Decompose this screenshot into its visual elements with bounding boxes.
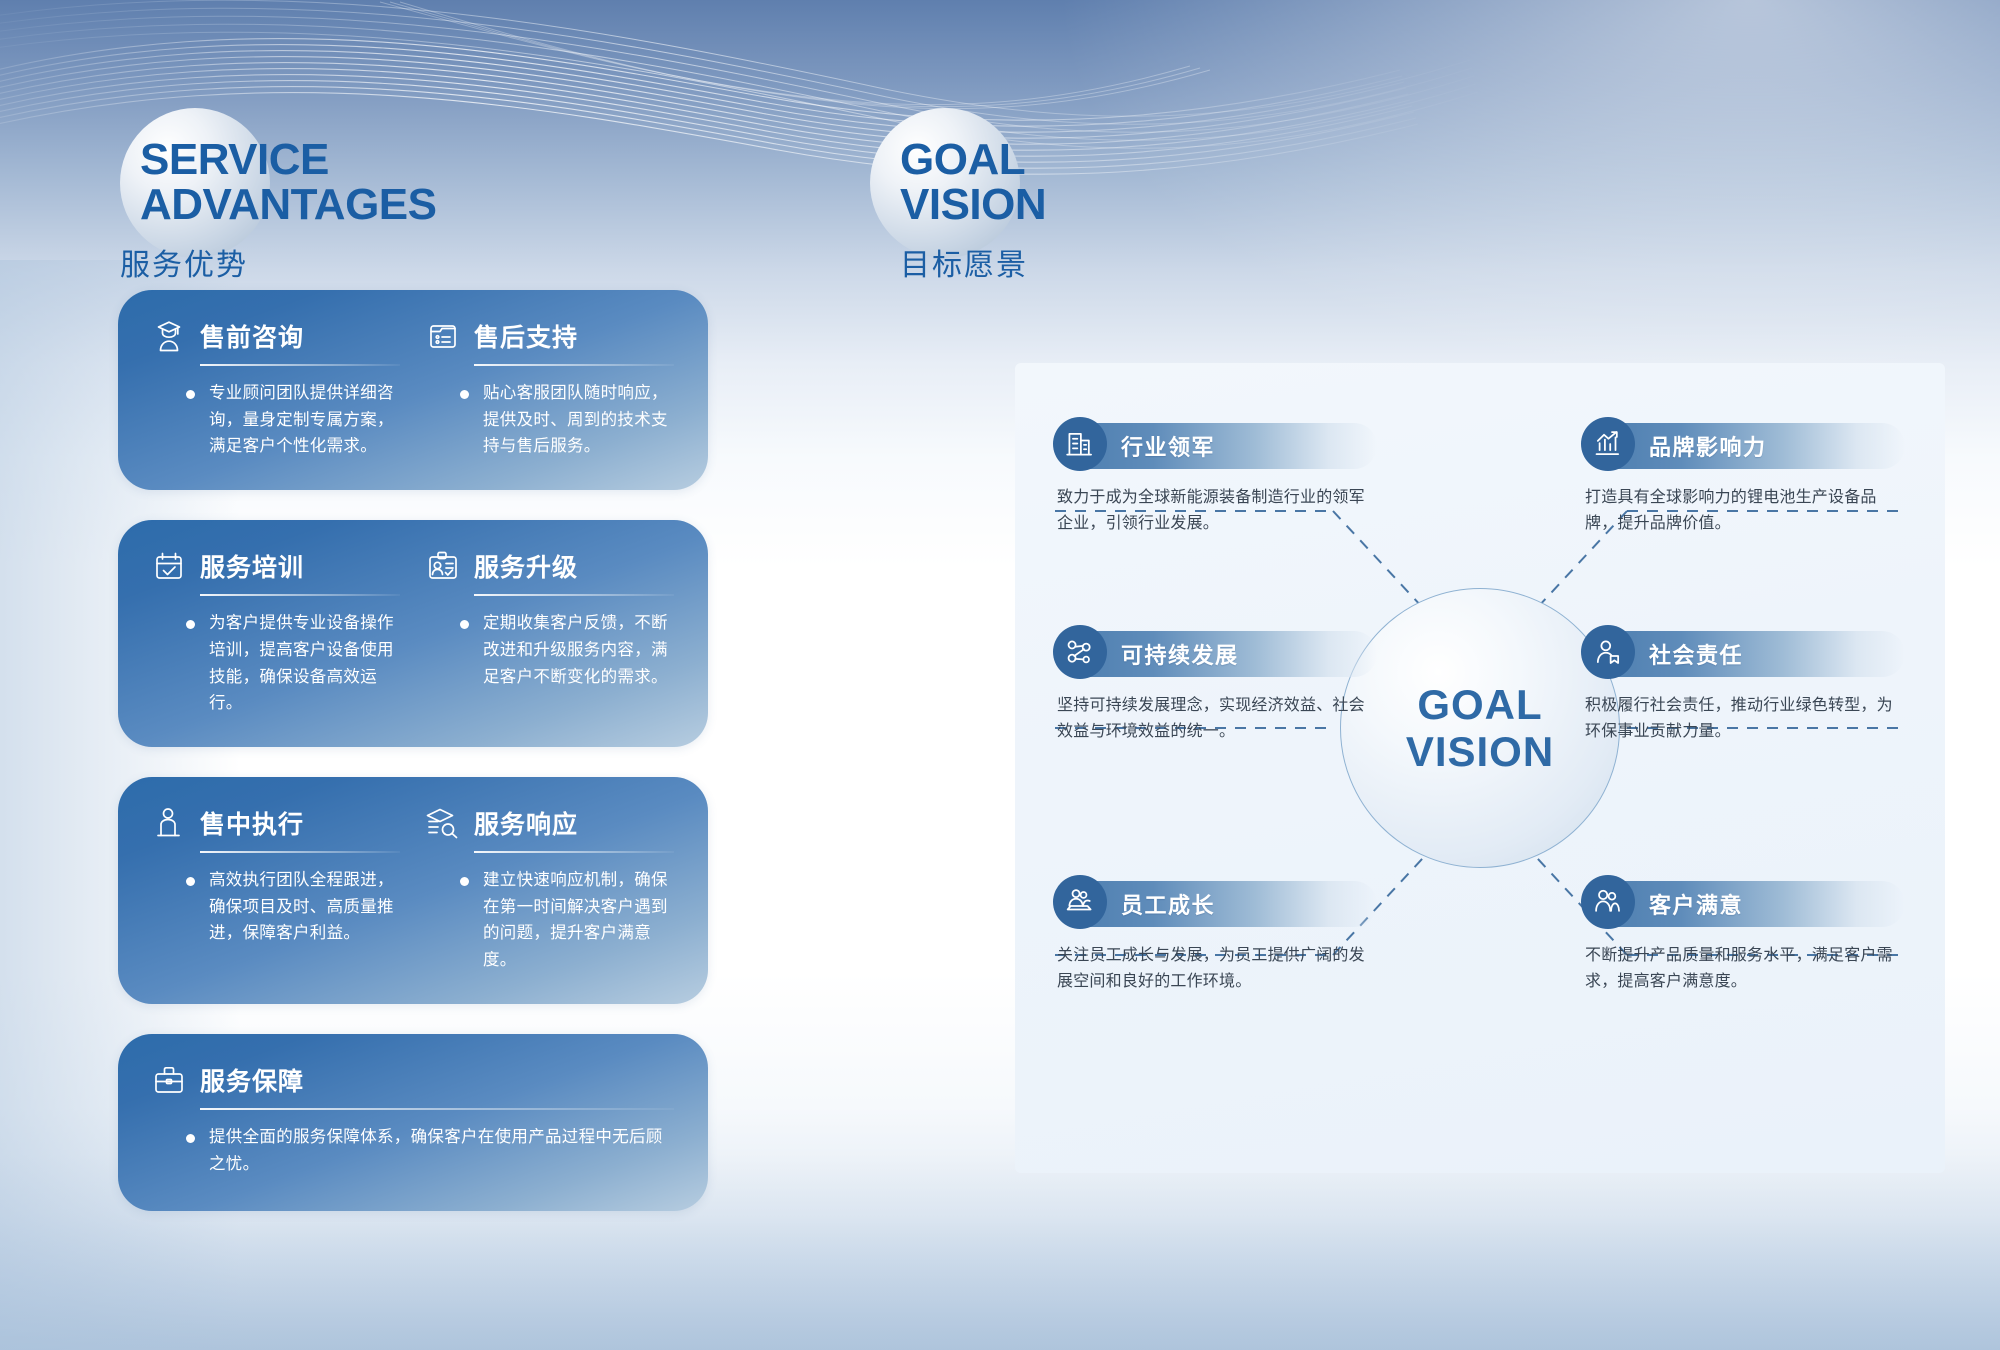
service-heading-english: SERVICE ADVANTAGES [140, 108, 720, 228]
goal-item-label: 社会责任 [1649, 638, 1743, 670]
service-item[interactable]: 服务培训为客户提供专业设备操作培训，提高客户设备使用技能，确保设备高效运行。 [152, 548, 400, 717]
service-item-title: 服务响应 [474, 805, 578, 841]
service-heading-line1: SERVICE [140, 138, 720, 183]
service-item-bullet: 贴心客服团队随时响应，提供及时、周到的技术支持与售后服务。 [426, 380, 674, 460]
goal-vision-heading: GOAL VISION 目标愿景 [870, 108, 1390, 288]
chart-growth-icon [1581, 417, 1635, 471]
person-badge-icon [1581, 625, 1635, 679]
goal-item-label: 客户满意 [1649, 888, 1743, 920]
goal-item-description: 关注员工成长与发展，为员工提供广阔的发展空间和良好的工作环境。 [1057, 943, 1377, 995]
service-item-description: 为客户提供专业设备操作培训，提高客户设备使用技能，确保设备高效运行。 [209, 610, 400, 717]
bullet-dot-icon [186, 877, 195, 886]
service-item-divider [200, 851, 400, 853]
bullet-dot-icon [460, 877, 469, 886]
goal-item-bot-right[interactable]: 客户满意不断提升产品质量和服务水平，满足客户需求，提高客户满意度。 [1585, 881, 1905, 995]
id-badge-check-icon [426, 549, 460, 583]
service-item-bullet: 为客户提供专业设备操作培训，提高客户设备使用技能，确保设备高效运行。 [152, 610, 400, 717]
service-item-divider [474, 594, 674, 596]
goal-item-description: 致力于成为全球新能源装备制造行业的领军企业，引领行业发展。 [1057, 485, 1377, 537]
goal-heading-line1: GOAL [900, 138, 1390, 183]
service-card-columns: 售前咨询专业顾问团队提供详细咨询，量身定制专属方案，满足客户个性化需求。售后支持… [152, 318, 674, 460]
goal-item-label: 品牌影响力 [1649, 430, 1767, 462]
service-item-bullet: 高效执行团队全程跟进，确保项目及时、高质量推进，保障客户利益。 [152, 867, 400, 947]
goal-item-bot-left[interactable]: 员工成长关注员工成长与发展，为员工提供广阔的发展空间和良好的工作环境。 [1057, 881, 1377, 995]
building-icon [1053, 417, 1107, 471]
goal-item-label: 员工成长 [1121, 888, 1215, 920]
service-item-description: 专业顾问团队提供详细咨询，量身定制专属方案，满足客户个性化需求。 [209, 380, 400, 460]
goal-item-chip[interactable]: 社会责任 [1585, 631, 1905, 677]
bullet-dot-icon [186, 390, 195, 399]
service-card[interactable]: 售中执行高效执行团队全程跟进，确保项目及时、高质量推进，保障客户利益。服务响应建… [118, 777, 708, 1004]
service-item-description: 定期收集客户反馈，不断改进和升级服务内容，满足客户不断变化的需求。 [483, 610, 674, 690]
service-heading-chinese: 服务优势 [120, 240, 720, 284]
service-item-description: 高效执行团队全程跟进，确保项目及时、高质量推进，保障客户利益。 [209, 867, 400, 947]
goal-vision-center-circle: GOAL VISION [1340, 588, 1620, 868]
service-item-description: 提供全面的服务保障体系，确保客户在使用产品过程中无后顾之忧。 [209, 1124, 674, 1177]
center-title-line1: GOAL [1417, 681, 1542, 728]
center-title-line2: VISION [1406, 728, 1554, 775]
service-item-bullet: 专业顾问团队提供详细咨询，量身定制专属方案，满足客户个性化需求。 [152, 380, 400, 460]
goal-item-label: 可持续发展 [1121, 638, 1239, 670]
goal-item-top-right[interactable]: 品牌影响力打造具有全球影响力的锂电池生产设备品牌，提升品牌价值。 [1585, 423, 1905, 537]
briefcase-icon [152, 1063, 186, 1097]
bullet-dot-icon [460, 390, 469, 399]
service-item[interactable]: 售中执行高效执行团队全程跟进，确保项目及时、高质量推进，保障客户利益。 [152, 805, 400, 974]
goal-item-chip[interactable]: 员工成长 [1057, 881, 1377, 927]
service-item-title-row: 售中执行 [152, 805, 400, 841]
goal-heading-english: GOAL VISION [900, 108, 1390, 228]
bullet-dot-icon [186, 1134, 195, 1143]
bullet-dot-icon [186, 620, 195, 629]
goal-item-mid-left[interactable]: 可持续发展坚持可持续发展理念，实现经济效益、社会效益与环境效益的统一。 [1057, 631, 1377, 745]
people-growth-icon [1053, 875, 1107, 929]
users-group-icon [1581, 875, 1635, 929]
goal-heading-line2: VISION [900, 183, 1390, 228]
service-item[interactable]: 服务响应建立快速响应机制，确保在第一时间解决客户遇到的问题，提升客户满意度。 [426, 805, 674, 974]
presenter-podium-icon [152, 806, 186, 840]
goal-item-chip[interactable]: 可持续发展 [1057, 631, 1377, 677]
service-item-divider [200, 594, 400, 596]
document-list-icon [426, 319, 460, 353]
goal-item-description: 打造具有全球影响力的锂电池生产设备品牌，提升品牌价值。 [1585, 485, 1905, 537]
service-item[interactable]: 服务保障提供全面的服务保障体系，确保客户在使用产品过程中无后顾之忧。 [152, 1062, 674, 1177]
service-item-title-row: 售前咨询 [152, 318, 400, 354]
goal-item-mid-right[interactable]: 社会责任积极履行社会责任，推动行业绿色转型，为环保事业贡献力量。 [1585, 631, 1905, 745]
service-item[interactable]: 服务升级定期收集客户反馈，不断改进和升级服务内容，满足客户不断变化的需求。 [426, 548, 674, 717]
service-card[interactable]: 服务保障提供全面的服务保障体系，确保客户在使用产品过程中无后顾之忧。 [118, 1034, 708, 1211]
service-card-columns: 服务保障提供全面的服务保障体系，确保客户在使用产品过程中无后顾之忧。 [152, 1062, 674, 1177]
service-item[interactable]: 售后支持贴心客服团队随时响应，提供及时、周到的技术支持与售后服务。 [426, 318, 674, 460]
service-item-title-row: 服务响应 [426, 805, 674, 841]
service-item-title: 售中执行 [200, 805, 304, 841]
service-heading-line2: ADVANTAGES [140, 183, 720, 228]
goal-item-description: 积极履行社会责任，推动行业绿色转型，为环保事业贡献力量。 [1585, 693, 1905, 745]
service-item[interactable]: 售前咨询专业顾问团队提供详细咨询，量身定制专属方案，满足客户个性化需求。 [152, 318, 400, 460]
service-item-title-row: 服务保障 [152, 1062, 674, 1098]
service-item-title: 服务培训 [200, 548, 304, 584]
service-item-title-row: 售后支持 [426, 318, 674, 354]
bullet-dot-icon [460, 620, 469, 629]
goal-item-label: 行业领军 [1121, 430, 1215, 462]
goal-vision-panel: GOAL VISION 行业领军致力于成为全球新能源装备制造行业的领军企业，引领… [1015, 363, 1945, 1173]
service-item-description: 建立快速响应机制，确保在第一时间解决客户遇到的问题，提升客户满意度。 [483, 867, 674, 974]
service-item-title: 售后支持 [474, 318, 578, 354]
service-item-title: 售前咨询 [200, 318, 304, 354]
goal-item-description: 不断提升产品质量和服务水平，满足客户需求，提高客户满意度。 [1585, 943, 1905, 995]
service-card[interactable]: 服务培训为客户提供专业设备操作培训，提高客户设备使用技能，确保设备高效运行。服务… [118, 520, 708, 747]
network-nodes-icon [1053, 625, 1107, 679]
service-item-divider [474, 851, 674, 853]
calendar-check-icon [152, 549, 186, 583]
service-item-bullet: 建立快速响应机制，确保在第一时间解决客户遇到的问题，提升客户满意度。 [426, 867, 674, 974]
goal-item-chip[interactable]: 品牌影响力 [1585, 423, 1905, 469]
service-item-title-row: 服务升级 [426, 548, 674, 584]
goal-heading-chinese: 目标愿景 [900, 240, 1390, 284]
service-item-title: 服务升级 [474, 548, 578, 584]
service-item-description: 贴心客服团队随时响应，提供及时、周到的技术支持与售后服务。 [483, 380, 674, 460]
service-card[interactable]: 售前咨询专业顾问团队提供详细咨询，量身定制专属方案，满足客户个性化需求。售后支持… [118, 290, 708, 490]
service-item-title: 服务保障 [200, 1062, 304, 1098]
service-item-divider [200, 1108, 674, 1110]
service-item-title-row: 服务培训 [152, 548, 400, 584]
goal-item-description: 坚持可持续发展理念，实现经济效益、社会效益与环境效益的统一。 [1057, 693, 1377, 745]
service-item-bullet: 提供全面的服务保障体系，确保客户在使用产品过程中无后顾之忧。 [152, 1124, 674, 1177]
graduate-consultant-icon [152, 319, 186, 353]
goal-item-top-left[interactable]: 行业领军致力于成为全球新能源装备制造行业的领军企业，引领行业发展。 [1057, 423, 1377, 537]
goal-item-chip[interactable]: 客户满意 [1585, 881, 1905, 927]
service-card-columns: 服务培训为客户提供专业设备操作培训，提高客户设备使用技能，确保设备高效运行。服务… [152, 548, 674, 717]
service-item-divider [200, 364, 400, 366]
service-card-columns: 售中执行高效执行团队全程跟进，确保项目及时、高质量推进，保障客户利益。服务响应建… [152, 805, 674, 974]
service-item-divider [474, 364, 674, 366]
goal-item-chip[interactable]: 行业领军 [1057, 423, 1377, 469]
service-advantages-panel: 售前咨询专业顾问团队提供详细咨询，量身定制专属方案，满足客户个性化需求。售后支持… [118, 290, 708, 1241]
layers-search-icon [426, 806, 460, 840]
service-item-bullet: 定期收集客户反馈，不断改进和升级服务内容，满足客户不断变化的需求。 [426, 610, 674, 690]
service-advantages-heading: SERVICE ADVANTAGES 服务优势 [120, 108, 720, 288]
